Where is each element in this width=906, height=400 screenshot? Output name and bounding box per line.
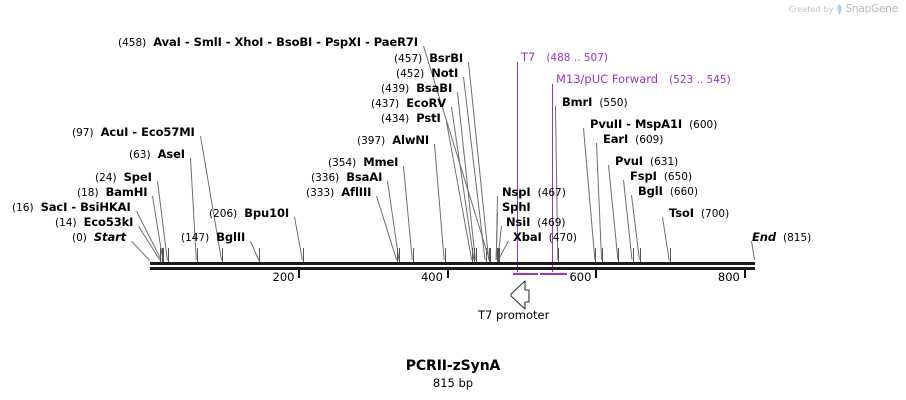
feature-span-bar[interactable] (513, 273, 538, 275)
enzyme-name: Eco57MI (141, 125, 195, 139)
enzyme-position: (333) (306, 187, 334, 199)
watermark-brand-label: SnapGene (845, 3, 898, 15)
enzyme-position: (452) (396, 68, 424, 80)
enzyme-name: XhoI (235, 35, 264, 49)
enzyme-name: XbaI (513, 230, 542, 244)
enzyme-name: BglII (216, 230, 245, 244)
enzyme-position: (336) (311, 172, 339, 184)
enzyme-label[interactable]: (16) SacI - BsiHKAI (12, 201, 131, 214)
restriction-cut-mark (160, 248, 161, 262)
enzyme-label[interactable]: (452) NotI (396, 67, 458, 80)
enzyme-name: AcuI (101, 125, 129, 139)
enzyme-name: BsiHKAI (80, 200, 131, 214)
enzyme-position: (16) (12, 202, 34, 214)
enzyme-label[interactable]: TsoI (700) (669, 207, 729, 220)
restriction-cut-mark (168, 248, 169, 262)
name-separator: - (222, 35, 235, 49)
enzyme-position: (467) (538, 187, 566, 199)
enzyme-name: MspA1I (635, 117, 682, 131)
enzyme-name: BsoBI (276, 35, 312, 49)
enzyme-name: EarI (603, 132, 628, 146)
enzyme-label[interactable]: (354) MmeI (328, 156, 398, 169)
label-leader-line (662, 217, 670, 260)
enzyme-position: (24) (95, 172, 117, 184)
enzyme-name: PaeR7I (374, 35, 418, 49)
enzyme-label[interactable]: (206) Bpu10I (209, 207, 289, 220)
enzyme-position: (600) (689, 119, 717, 131)
enzyme-label[interactable]: PvuI (631) (615, 155, 678, 168)
enzyme-name: MmeI (363, 155, 398, 169)
enzyme-name: SphI (502, 200, 531, 214)
enzyme-label[interactable]: XbaI (470) (513, 231, 577, 244)
enzyme-name: BamHI (106, 185, 148, 199)
label-leader-line (583, 128, 595, 260)
label-leader-line (623, 180, 633, 260)
label-leader-line (434, 144, 445, 260)
restriction-cut-mark (640, 248, 641, 262)
restriction-cut-mark (476, 248, 477, 262)
name-separator: - (263, 35, 276, 49)
ruler-tick (744, 270, 746, 278)
enzyme-position: (397) (357, 135, 385, 147)
name-separator: - (128, 125, 141, 139)
enzyme-label[interactable]: FspI (650) (630, 170, 692, 183)
name-separator: - (361, 35, 374, 49)
ruler-tick (595, 270, 597, 278)
feature-range: (488 .. 507) (546, 52, 608, 64)
restriction-cut-mark (499, 248, 500, 262)
restriction-cut-mark (474, 248, 475, 262)
enzyme-position: (147) (181, 232, 209, 244)
enzyme-label[interactable]: (336) BsaAI (311, 171, 382, 184)
snapgene-leaf-icon (836, 4, 842, 15)
restriction-cut-mark (197, 248, 198, 262)
enzyme-name: Bpu10I (244, 206, 289, 220)
restriction-cut-mark (303, 248, 304, 262)
enzyme-position: (354) (328, 157, 356, 169)
enzyme-name: PspXI (325, 35, 361, 49)
enzyme-name: NspI (502, 185, 531, 199)
name-separator: - (181, 35, 194, 49)
enzyme-name: PvuI (615, 154, 643, 168)
label-leader-line (131, 241, 150, 261)
enzyme-position: (63) (129, 149, 151, 161)
enzyme-position: (458) (118, 37, 146, 49)
enzyme-name: FspI (630, 169, 657, 183)
label-leader-line (608, 165, 618, 260)
enzyme-position: (206) (209, 208, 237, 220)
enzyme-label[interactable]: BmrI (550) (562, 96, 628, 109)
restriction-cut-mark (558, 248, 559, 262)
enzyme-label[interactable]: (14) Eco53kI (55, 216, 133, 229)
feature-name: T7 (521, 50, 535, 64)
end-position: (815) (783, 232, 811, 244)
enzyme-name: Eco53kI (84, 215, 134, 229)
ruler-tick-label: 200 (236, 270, 294, 284)
label-leader-line (190, 158, 197, 260)
feature-name: M13/pUC Forward (556, 72, 658, 86)
feature-range: (523 .. 545) (669, 74, 731, 86)
feature-label[interactable]: T7 (488 .. 507) (521, 51, 608, 64)
enzyme-position: (609) (635, 134, 663, 146)
start-position: (0) (72, 232, 87, 244)
enzyme-position: (700) (701, 208, 729, 220)
restriction-cut-mark (633, 248, 634, 262)
restriction-cut-mark (486, 248, 487, 262)
enzyme-label[interactable]: SphI (502, 201, 531, 214)
restriction-cut-mark (670, 248, 671, 262)
restriction-cut-mark (602, 248, 603, 262)
enzyme-name: PvuII (590, 117, 622, 131)
plasmid-map-canvas: Created by SnapGene (458) AvaI - SmlI - … (0, 0, 906, 400)
enzyme-position: (550) (599, 97, 627, 109)
enzyme-position: (14) (55, 217, 77, 229)
enzyme-name: TsoI (669, 206, 694, 220)
enzyme-position: (660) (670, 186, 698, 198)
enzyme-name: SpeI (124, 170, 152, 184)
enzyme-label[interactable]: PvuII - MspA1I (600) (590, 118, 717, 131)
enzyme-label[interactable]: (434) PstI (381, 112, 441, 125)
enzyme-name: AvaI (153, 35, 181, 49)
restriction-cut-mark (472, 248, 473, 262)
name-separator: - (312, 35, 325, 49)
enzyme-position: (434) (381, 113, 409, 125)
enzyme-name: BsrBI (429, 51, 463, 65)
t7-promoter-label: T7 promoter (478, 308, 549, 322)
feature-label[interactable]: M13/pUC Forward (523 .. 545) (556, 73, 731, 86)
enzyme-label[interactable]: EarI (609) (603, 133, 663, 146)
watermark-created-by-label: Created by (788, 5, 833, 14)
plasmid-name: PCRII-zSynA (0, 358, 906, 374)
backbone-line (150, 262, 755, 265)
enzyme-name: AseI (158, 147, 185, 161)
enzyme-name: SacI (41, 200, 68, 214)
enzyme-position: (631) (650, 156, 678, 168)
ruler-tick-label: 400 (385, 270, 443, 284)
enzyme-name: NsiI (506, 215, 530, 229)
enzyme-position: (439) (381, 83, 409, 95)
ruler-tick (298, 270, 300, 278)
restriction-cut-mark (259, 248, 260, 262)
restriction-cut-mark (445, 248, 446, 262)
enzyme-label[interactable]: (397) AlwNI (357, 134, 429, 147)
restriction-cut-mark (618, 248, 619, 262)
enzyme-name: PstI (416, 111, 440, 125)
enzyme-name: BsaBI (416, 81, 452, 95)
enzyme-name: EcoRV (406, 96, 446, 110)
enzyme-label[interactable]: (63) AseI (129, 148, 185, 161)
enzyme-label[interactable]: (457) BsrBI (394, 52, 463, 65)
restriction-cut-mark (413, 248, 414, 262)
name-separator: - (67, 200, 80, 214)
enzyme-label[interactable]: NsiI (469) (506, 216, 566, 229)
enzyme-position: (18) (77, 187, 99, 199)
enzyme-position: (457) (394, 53, 422, 65)
enzyme-name: NotI (431, 66, 458, 80)
enzyme-label[interactable]: (333) AflIII (306, 186, 371, 199)
enzyme-label[interactable]: NspI (467) (502, 186, 566, 199)
restriction-cut-mark (399, 248, 400, 262)
name-separator: - (622, 117, 635, 131)
enzyme-position: (97) (72, 127, 94, 139)
enzyme-name: BglI (638, 184, 663, 198)
enzyme-label[interactable]: (437) EcoRV (371, 97, 446, 110)
plasmid-size: 815 bp (0, 376, 906, 390)
enzyme-name: AflIII (341, 185, 371, 199)
restriction-cut-mark (162, 248, 163, 262)
enzyme-position: (650) (664, 171, 692, 183)
enzyme-label[interactable]: (24) SpeI (95, 171, 152, 184)
enzyme-position: (437) (371, 98, 399, 110)
enzyme-name: BsaAI (346, 170, 382, 184)
enzyme-position: (470) (549, 232, 577, 244)
enzyme-name: BmrI (562, 95, 592, 109)
enzyme-label[interactable]: (18) BamHI (77, 186, 147, 199)
restriction-cut-mark (222, 248, 223, 262)
enzyme-label[interactable]: (147) BglII (181, 231, 245, 244)
enzyme-name: AlwNI (392, 133, 429, 147)
enzyme-label[interactable]: (458) AvaI - SmlI - XhoI - BsoBI - PspXI… (118, 36, 418, 49)
enzyme-position: (469) (537, 217, 565, 229)
restriction-cut-mark (595, 248, 596, 262)
label-leader-line (596, 143, 602, 260)
label-leader-line (403, 166, 413, 260)
start-label: Start (94, 230, 126, 244)
enzyme-name: SmlI (194, 35, 222, 49)
end-label: End (752, 230, 776, 244)
enzyme-label[interactable]: (97) AcuI - Eco57MI (72, 126, 195, 139)
label-leader-line (250, 241, 259, 260)
restriction-cut-mark (397, 248, 398, 262)
snapgene-watermark: Created by SnapGene (788, 3, 898, 15)
ruler-tick-label: 800 (682, 270, 740, 284)
label-leader-line (294, 217, 303, 260)
ruler-tick (447, 270, 449, 278)
plasmid-title-block: PCRII-zSynA 815 bp (0, 358, 906, 390)
start-marker-label[interactable]: (0) Start (72, 231, 126, 244)
feature-span-bar[interactable] (540, 273, 567, 275)
end-marker-label[interactable]: End (815) (752, 231, 811, 244)
restriction-cut-mark (489, 248, 490, 262)
enzyme-label[interactable]: BglI (660) (638, 185, 698, 198)
restriction-cut-mark (163, 248, 164, 262)
enzyme-label[interactable]: (439) BsaBI (381, 82, 452, 95)
label-leader-line (451, 107, 474, 260)
